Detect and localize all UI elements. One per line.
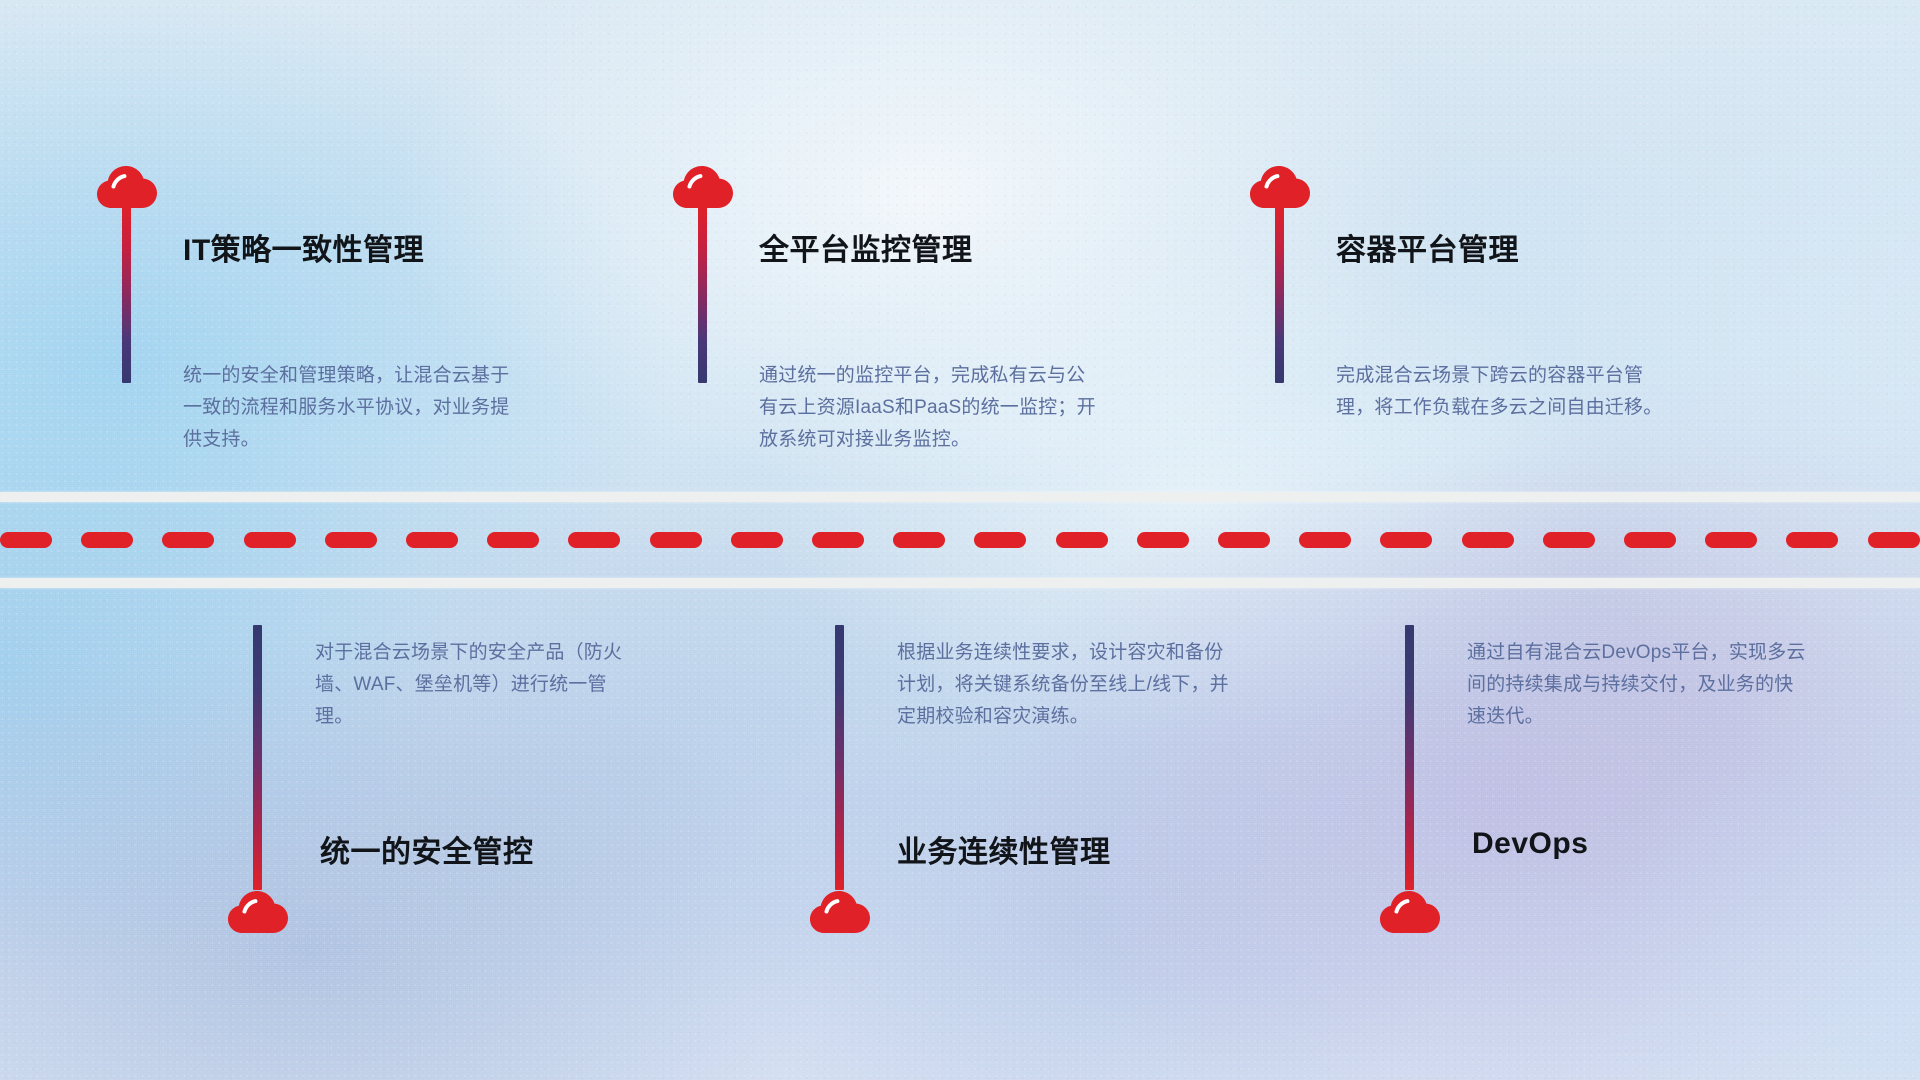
feature-heading: DevOps [1472,827,1588,861]
pin-stem [253,625,262,890]
pin-stem [698,205,707,383]
road-dash-segment [1056,532,1108,548]
road-dash-segment [81,532,133,548]
road-dash-segment [1462,532,1514,548]
road-dash-segment [1543,532,1595,548]
road-dash-segment [1624,532,1676,548]
road-edge-bottom-line [0,578,1920,588]
pin-stem [122,205,131,383]
road-dash-segment [650,532,702,548]
road-dash-segment [0,532,52,548]
road-dashed-center-line [0,532,1920,548]
pin-stem [835,625,844,890]
pin-stem [1275,205,1284,383]
cloud-marker-icon [1379,888,1441,934]
feature-heading: 业务连续性管理 [897,827,1111,871]
road-dash-segment [406,532,458,548]
feature-body: 完成混合云场景下跨云的容器平台管理，将工作负载在多云之间自由迁移。 [1336,360,1681,424]
pin-stem [1405,625,1414,890]
road-dash-segment [162,532,214,548]
road-dash-segment [1137,532,1189,548]
feature-body: 通过自有混合云DevOps平台，实现多云间的持续集成与持续交付，及业务的快速迭代… [1467,637,1812,733]
cloud-marker-icon [227,888,289,934]
road-dash-segment [325,532,377,548]
road-dash-segment [1218,532,1270,548]
feature-heading: 统一的安全管控 [320,827,534,871]
road-dash-segment [731,532,783,548]
feature-body: 对于混合云场景下的安全产品（防火墙、WAF、堡垒机等）进行统一管理。 [315,637,645,733]
feature-heading: IT策略一致性管理 [183,225,424,269]
road-dash-segment [1299,532,1351,548]
road-dash-segment [1786,532,1838,548]
road-dash-segment [244,532,296,548]
feature-body: 根据业务连续性要求，设计容灾和备份计划，将关键系统备份至线上/线下，并定期校验和… [897,637,1242,733]
cloud-marker-icon [1249,163,1311,209]
road-dash-segment [1380,532,1432,548]
infographic-canvas: IT策略一致性管理 统一的安全和管理策略，让混合云基于一致的流程和服务水平协议，… [0,0,1920,1080]
cloud-marker-icon [809,888,871,934]
cloud-marker-icon [96,163,158,209]
road-dash-segment [487,532,539,548]
cloud-marker-icon [672,163,734,209]
feature-body: 通过统一的监控平台，完成私有云与公有云上资源IaaS和PaaS的统一监控；开放系… [759,360,1104,456]
feature-heading: 全平台监控管理 [759,225,973,269]
road-dash-segment [568,532,620,548]
road-dash-segment [1705,532,1757,548]
feature-heading: 容器平台管理 [1336,225,1519,269]
road-dash-segment [974,532,1026,548]
road-dash-segment [893,532,945,548]
road-dash-segment [1868,532,1920,548]
road-dash-segment [812,532,864,548]
road-edge-top-line [0,492,1920,502]
feature-body: 统一的安全和管理策略，让混合云基于一致的流程和服务水平协议，对业务提供支持。 [183,360,513,456]
